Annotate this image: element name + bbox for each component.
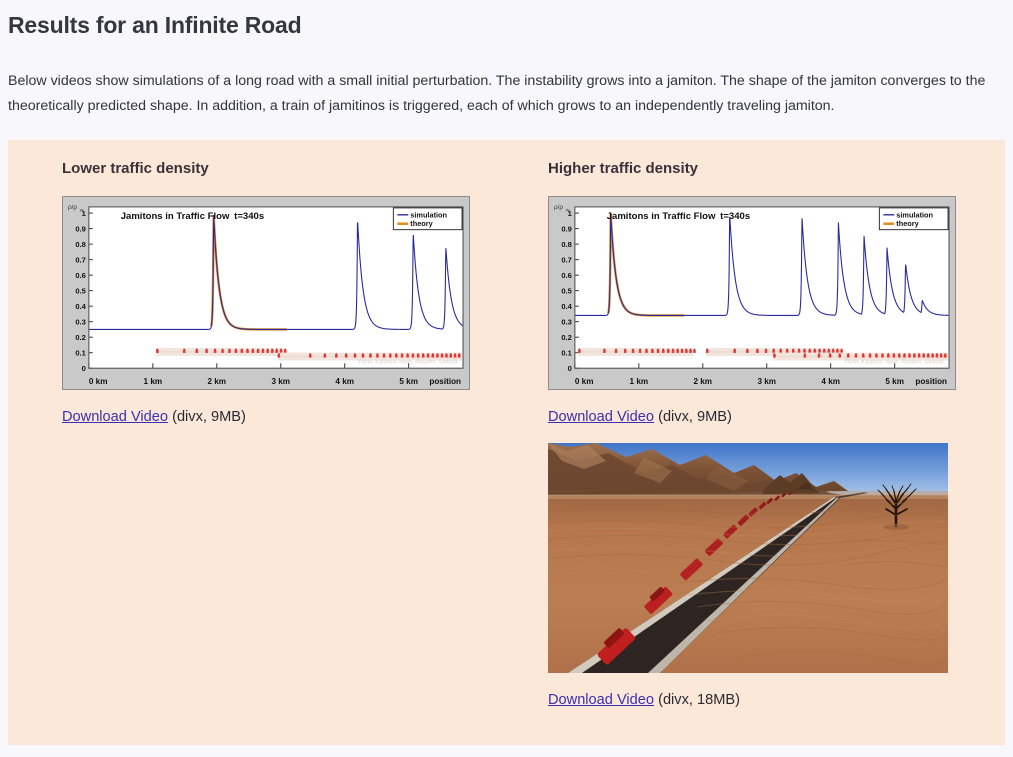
content-panel: Lower traffic density 00.10.20.30.40.50.… bbox=[8, 140, 1005, 745]
chart-time-lower: t=340s bbox=[234, 211, 264, 222]
desert-render-svg bbox=[548, 443, 948, 673]
svg-text:0: 0 bbox=[568, 364, 572, 373]
y-axis-label-sub-lower: w bbox=[80, 208, 84, 213]
chart-time-higher: t=340s bbox=[720, 211, 750, 222]
section-heading-lower: Lower traffic density bbox=[62, 160, 522, 177]
svg-text:2 km: 2 km bbox=[207, 377, 226, 386]
svg-text:0.9: 0.9 bbox=[75, 225, 86, 234]
legend-label-simulation-lower: simulation bbox=[410, 210, 447, 219]
y-axis-label-higher: ρ/ρ bbox=[554, 204, 563, 211]
svg-text:0.2: 0.2 bbox=[561, 333, 572, 342]
svg-text:1 km: 1 km bbox=[630, 377, 649, 386]
chart-lower-svg: 00.10.20.30.40.50.60.70.80.91 0 km1 km2 … bbox=[63, 197, 469, 389]
download-video-link-higher[interactable]: Download Video bbox=[548, 409, 654, 425]
svg-text:0.7: 0.7 bbox=[561, 256, 572, 265]
svg-text:1 km: 1 km bbox=[144, 377, 163, 386]
svg-text:0.1: 0.1 bbox=[561, 349, 572, 358]
y-axis-label-sub-higher: w bbox=[566, 208, 570, 213]
svg-text:0 km: 0 km bbox=[89, 377, 108, 386]
desert-highway-render bbox=[548, 443, 948, 673]
svg-text:0.5: 0.5 bbox=[561, 287, 572, 296]
svg-text:0.3: 0.3 bbox=[75, 318, 86, 327]
chart-title-higher: Jamitons in Traffic Flow bbox=[607, 211, 716, 222]
x-axis-label-lower: position bbox=[429, 377, 461, 386]
page-title: Results for an Infinite Road bbox=[8, 12, 1013, 39]
chart-higher-svg: 00.10.20.30.40.50.60.70.80.91 0 km1 km2 … bbox=[549, 197, 955, 389]
intro-paragraph: Below videos show simulations of a long … bbox=[8, 69, 1005, 119]
download-row-lower: Download Video (divx, 9MB) bbox=[62, 409, 522, 425]
column-lower-density: Lower traffic density 00.10.20.30.40.50.… bbox=[62, 140, 522, 425]
chart-title-lower: Jamitons in Traffic Flow bbox=[121, 211, 230, 222]
chart-watermark-higher: Flynn, Kasimov, Nave, Rosales, Seibold bbox=[845, 359, 944, 365]
download-row-higher: Download Video (divx, 9MB) bbox=[548, 409, 1008, 425]
svg-text:0.2: 0.2 bbox=[75, 333, 86, 342]
legend-label-theory-higher: theory bbox=[896, 219, 919, 228]
svg-text:0.3: 0.3 bbox=[561, 318, 572, 327]
svg-text:0.7: 0.7 bbox=[75, 256, 86, 265]
svg-text:3 km: 3 km bbox=[271, 377, 290, 386]
svg-text:2 km: 2 km bbox=[693, 377, 712, 386]
y-axis-label-lower: ρ/ρ bbox=[68, 204, 77, 211]
download-video-link-lower[interactable]: Download Video bbox=[62, 409, 168, 425]
download-meta-higher: (divx, 9MB) bbox=[654, 409, 732, 425]
svg-text:4 km: 4 km bbox=[821, 377, 840, 386]
svg-text:0.9: 0.9 bbox=[561, 225, 572, 234]
legend-label-theory-lower: theory bbox=[410, 219, 433, 228]
svg-text:0.8: 0.8 bbox=[75, 240, 86, 249]
chart-legend-lower: simulation theory bbox=[393, 208, 462, 230]
svg-text:5 km: 5 km bbox=[399, 377, 418, 386]
chart-legend-higher: simulation theory bbox=[879, 208, 948, 230]
svg-text:3 km: 3 km bbox=[757, 377, 776, 386]
svg-text:0.6: 0.6 bbox=[561, 271, 572, 280]
chart-higher-density: 00.10.20.30.40.50.60.70.80.91 0 km1 km2 … bbox=[548, 196, 956, 390]
download-video-link-render[interactable]: Download Video bbox=[548, 692, 654, 708]
svg-text:0.8: 0.8 bbox=[561, 240, 572, 249]
x-axis-label-higher: position bbox=[915, 377, 947, 386]
download-row-render: Download Video (divx, 18MB) bbox=[548, 692, 1008, 708]
download-meta-lower: (divx, 9MB) bbox=[168, 409, 246, 425]
chart-lower-density: 00.10.20.30.40.50.60.70.80.91 0 km1 km2 … bbox=[62, 196, 470, 390]
svg-text:0.1: 0.1 bbox=[75, 349, 86, 358]
svg-text:0.4: 0.4 bbox=[561, 302, 572, 311]
svg-text:4 km: 4 km bbox=[335, 377, 354, 386]
svg-text:0.5: 0.5 bbox=[75, 287, 86, 296]
section-heading-higher: Higher traffic density bbox=[548, 160, 1008, 177]
download-meta-render: (divx, 18MB) bbox=[654, 692, 740, 708]
svg-text:0: 0 bbox=[82, 364, 86, 373]
svg-text:0.6: 0.6 bbox=[75, 271, 86, 280]
chart-watermark-lower: Flynn, Kasimov, Nave, Rosales, Seibold bbox=[359, 359, 458, 365]
svg-text:0.4: 0.4 bbox=[75, 302, 86, 311]
svg-text:5 km: 5 km bbox=[885, 377, 904, 386]
legend-label-simulation-higher: simulation bbox=[896, 210, 933, 219]
column-higher-density: Higher traffic density 00.10.20.30.40.50… bbox=[548, 140, 1008, 708]
svg-text:0 km: 0 km bbox=[575, 377, 594, 386]
